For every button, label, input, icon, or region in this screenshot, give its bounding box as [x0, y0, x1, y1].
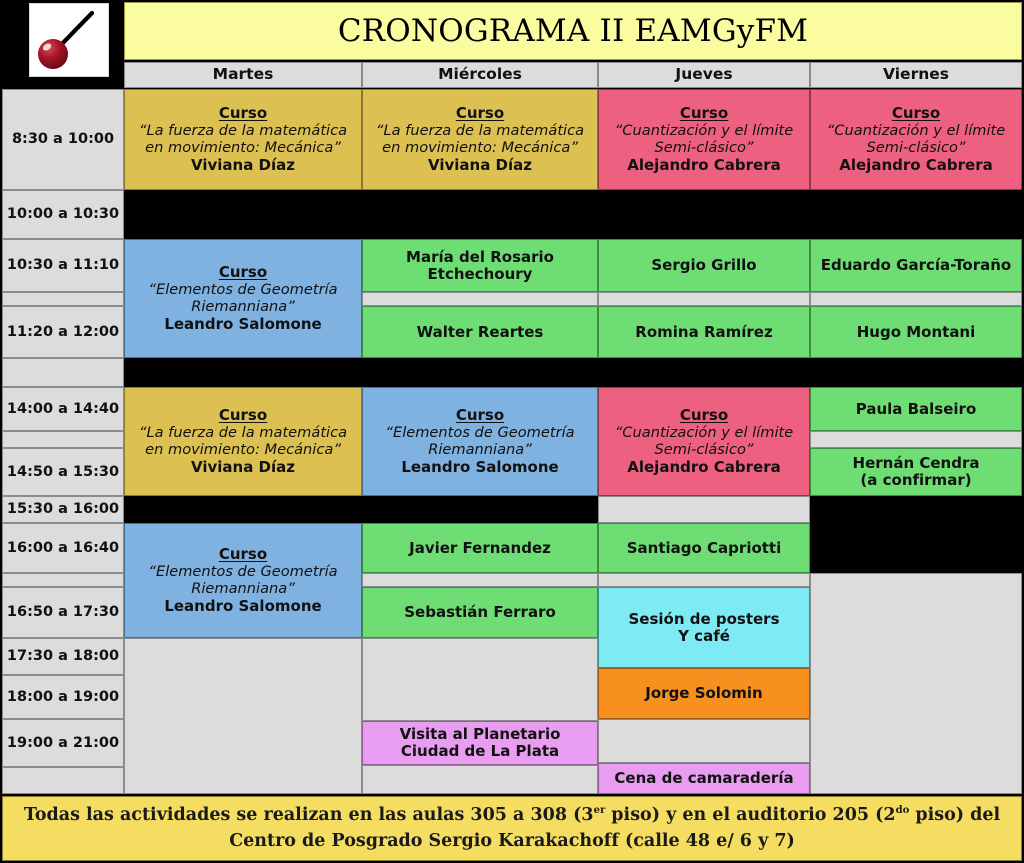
event-line1: Sesión de posters — [628, 611, 779, 628]
break-1000 — [124, 190, 1022, 239]
speaker-line2: Etchechoury — [428, 266, 533, 283]
slot-viernes-0830[interactable]: Curso “Cuantización y el límite Semi-clá… — [810, 89, 1022, 190]
spacer-viernes-1450 — [810, 431, 1022, 448]
time-spacer-3 — [2, 431, 124, 448]
time-spacer-2 — [2, 358, 124, 387]
course-label: Curso — [456, 407, 504, 424]
course-title-line1: “Cuantización y el límite — [827, 123, 1006, 140]
slot-martes-1400[interactable]: Curso “La fuerza de la matemática en mov… — [124, 387, 362, 496]
day-header-viernes: Viernes — [810, 62, 1022, 88]
time-label-1000: 10:00 a 10:30 — [2, 190, 124, 239]
course-title-line1: “La fuerza de la matemática — [139, 123, 347, 140]
course-speaker: Leandro Salomone — [401, 459, 558, 476]
slot-jueves-1650-posters[interactable]: Sesión de posters Y café — [598, 587, 810, 668]
page-title: CRONOGRAMA II EAMGyFM — [124, 2, 1022, 60]
course-title-line2: Semi-clásico” — [867, 140, 966, 157]
venue-note-line1-a: Todas las actividades se realizan en las… — [24, 805, 594, 825]
slot-martes-1600[interactable]: Curso “Elementos de Geometría Riemannian… — [124, 523, 362, 638]
empty-martes-evening — [124, 638, 362, 794]
course-title-line1: “Elementos de Geometría — [148, 564, 337, 581]
time-label-1730: 17:30 a 18:00 — [2, 638, 124, 675]
ordinal-er: er — [594, 805, 606, 816]
spacer-jueves-1650 — [598, 573, 810, 587]
course-label: Curso — [680, 407, 728, 424]
course-title-line1: “Elementos de Geometría — [385, 425, 574, 442]
spacer-miercoles-1110 — [362, 292, 598, 306]
schedule-poster: CRONOGRAMA II EAMGyFM Martes Miércoles J… — [0, 0, 1024, 863]
spacer-viernes-1110 — [810, 292, 1022, 306]
time-label-1530: 15:30 a 16:00 — [2, 496, 124, 523]
venue-note: Todas las actividades se realizan en las… — [2, 796, 1022, 861]
course-label: Curso — [456, 105, 504, 122]
time-label-1650: 16:50 a 17:30 — [2, 587, 124, 638]
empty-viernes-evening — [810, 573, 1022, 794]
course-title-line1: “La fuerza de la matemática — [139, 425, 347, 442]
time-spacer-4 — [2, 573, 124, 587]
slot-jueves-cena[interactable]: Cena de camaradería — [598, 763, 810, 794]
spacer-jueves-1110 — [598, 292, 810, 306]
time-label-0830: 8:30 a 10:00 — [2, 89, 124, 190]
time-label-1450: 14:50 a 15:30 — [2, 448, 124, 496]
pendulum-icon — [29, 3, 109, 77]
course-label: Curso — [219, 105, 267, 122]
slot-miercoles-1030[interactable]: María del Rosario Etchechoury — [362, 239, 598, 292]
slot-miercoles-1650[interactable]: Sebastián Ferraro — [362, 587, 598, 638]
course-speaker: Alejandro Cabrera — [627, 157, 781, 174]
event-line1: Visita al Planetario — [400, 726, 561, 743]
empty-jueves-1900 — [598, 719, 810, 763]
course-speaker: Leandro Salomone — [164, 598, 321, 615]
course-title-line2: Semi-clásico” — [655, 442, 754, 459]
slot-viernes-1030[interactable]: Eduardo García-Toraño — [810, 239, 1022, 292]
course-speaker: Leandro Salomone — [164, 316, 321, 333]
slot-viernes-1450[interactable]: Hernán Cendra (a confirmar) — [810, 448, 1022, 496]
course-speaker: Viviana Díaz — [428, 157, 532, 174]
course-label: Curso — [680, 105, 728, 122]
slot-jueves-0830[interactable]: Curso “Cuantización y el límite Semi-clá… — [598, 89, 810, 190]
course-title-line1: “Cuantización y el límite — [615, 123, 794, 140]
course-title-line1: “Elementos de Geometría — [148, 282, 337, 299]
venue-note-line1-c: piso) del — [909, 805, 1000, 825]
empty-miercoles-1730 — [362, 638, 598, 721]
speaker: Jorge Solomin — [645, 685, 762, 702]
time-spacer-1 — [2, 292, 124, 306]
slot-jueves-1400[interactable]: Curso “Cuantización y el límite Semi-clá… — [598, 387, 810, 496]
course-label: Curso — [219, 546, 267, 563]
event-label: Cena de camaradería — [614, 770, 793, 787]
course-speaker: Alejandro Cabrera — [839, 157, 993, 174]
course-title-line2: en movimiento: Mecánica” — [145, 140, 341, 157]
course-title-line2: en movimiento: Mecánica” — [382, 140, 578, 157]
day-header-miercoles: Miércoles — [362, 62, 598, 88]
spacer-miercoles-1650 — [362, 573, 598, 587]
speaker: Santiago Capriotti — [627, 540, 782, 557]
course-title-line1: “La fuerza de la matemática — [376, 123, 584, 140]
time-label-1600: 16:00 a 16:40 — [2, 523, 124, 573]
course-title-line2: Riemanniana” — [191, 299, 295, 316]
event-line2: Y café — [678, 628, 730, 645]
speaker: Romina Ramírez — [635, 324, 772, 341]
course-title-line2: Semi-clásico” — [655, 140, 754, 157]
speaker: Javier Fernandez — [409, 540, 551, 557]
slot-jueves-1800[interactable]: Jorge Solomin — [598, 668, 810, 719]
speaker: Sergio Grillo — [651, 257, 756, 274]
speaker: Eduardo García-Toraño — [821, 257, 1012, 274]
time-label-1800: 18:00 a 19:00 — [2, 675, 124, 719]
break-1530-jueves — [598, 496, 810, 523]
slot-martes-0830[interactable]: Curso “La fuerza de la matemática en mov… — [124, 89, 362, 190]
slot-viernes-1120[interactable]: Hugo Montani — [810, 306, 1022, 358]
venue-note-line1: Todas las actividades se realizan en las… — [24, 803, 1000, 828]
slot-miercoles-1400[interactable]: Curso “Elementos de Geometría Riemannian… — [362, 387, 598, 496]
speaker: Paula Balseiro — [856, 401, 977, 418]
speaker: Walter Reartes — [417, 324, 544, 341]
speaker-line1: Hernán Cendra — [853, 455, 980, 472]
course-label: Curso — [892, 105, 940, 122]
time-label-1400: 14:00 a 14:40 — [2, 387, 124, 431]
slot-miercoles-1900-planetario[interactable]: Visita al Planetario Ciudad de La Plata — [362, 721, 598, 765]
course-title-line2: Riemanniana” — [191, 581, 295, 598]
time-label-1120: 11:20 a 12:00 — [2, 306, 124, 358]
time-label-1030: 10:30 a 11:10 — [2, 239, 124, 292]
course-speaker: Viviana Díaz — [191, 157, 295, 174]
day-header-jueves: Jueves — [598, 62, 810, 88]
slot-miercoles-1120[interactable]: Walter Reartes — [362, 306, 598, 358]
slot-jueves-1600[interactable]: Santiago Capriotti — [598, 523, 810, 573]
break-1530-left — [124, 496, 598, 523]
speaker: Hugo Montani — [857, 324, 976, 341]
event-line2: Ciudad de La Plata — [401, 743, 559, 760]
slot-jueves-1030[interactable]: Sergio Grillo — [598, 239, 810, 292]
slot-miercoles-1600[interactable]: Javier Fernandez — [362, 523, 598, 573]
speaker-line1: María del Rosario — [406, 249, 554, 266]
course-title-line2: Riemanniana” — [428, 442, 532, 459]
empty-viernes-1600 — [810, 523, 1022, 573]
course-label: Curso — [219, 264, 267, 281]
slot-martes-1030[interactable]: Curso “Elementos de Geometría Riemannian… — [124, 239, 362, 358]
venue-note-line1-b: piso) y en el auditorio 205 (2 — [605, 805, 895, 825]
speaker-line2: (a confirmar) — [860, 472, 971, 489]
course-speaker: Alejandro Cabrera — [627, 459, 781, 476]
slot-miercoles-0830[interactable]: Curso “La fuerza de la matemática en mov… — [362, 89, 598, 190]
break-1530-viernes — [810, 496, 1022, 523]
break-lunch — [124, 358, 1022, 387]
course-speaker: Viviana Díaz — [191, 459, 295, 476]
course-title-line1: “Cuantización y el límite — [615, 425, 794, 442]
day-header-martes: Martes — [124, 62, 362, 88]
venue-note-line2: Centro de Posgrado Sergio Karakachoff (c… — [229, 829, 795, 854]
time-label-1900: 19:00 a 21:00 — [2, 719, 124, 767]
ordinal-do: do — [896, 805, 910, 816]
slot-jueves-1120[interactable]: Romina Ramírez — [598, 306, 810, 358]
course-label: Curso — [219, 407, 267, 424]
speaker: Sebastián Ferraro — [404, 604, 556, 621]
course-title-line2: en movimiento: Mecánica” — [145, 442, 341, 459]
slot-viernes-1400[interactable]: Paula Balseiro — [810, 387, 1022, 431]
time-spacer-5 — [2, 767, 124, 794]
spacer-miercoles-bottom — [362, 765, 598, 794]
